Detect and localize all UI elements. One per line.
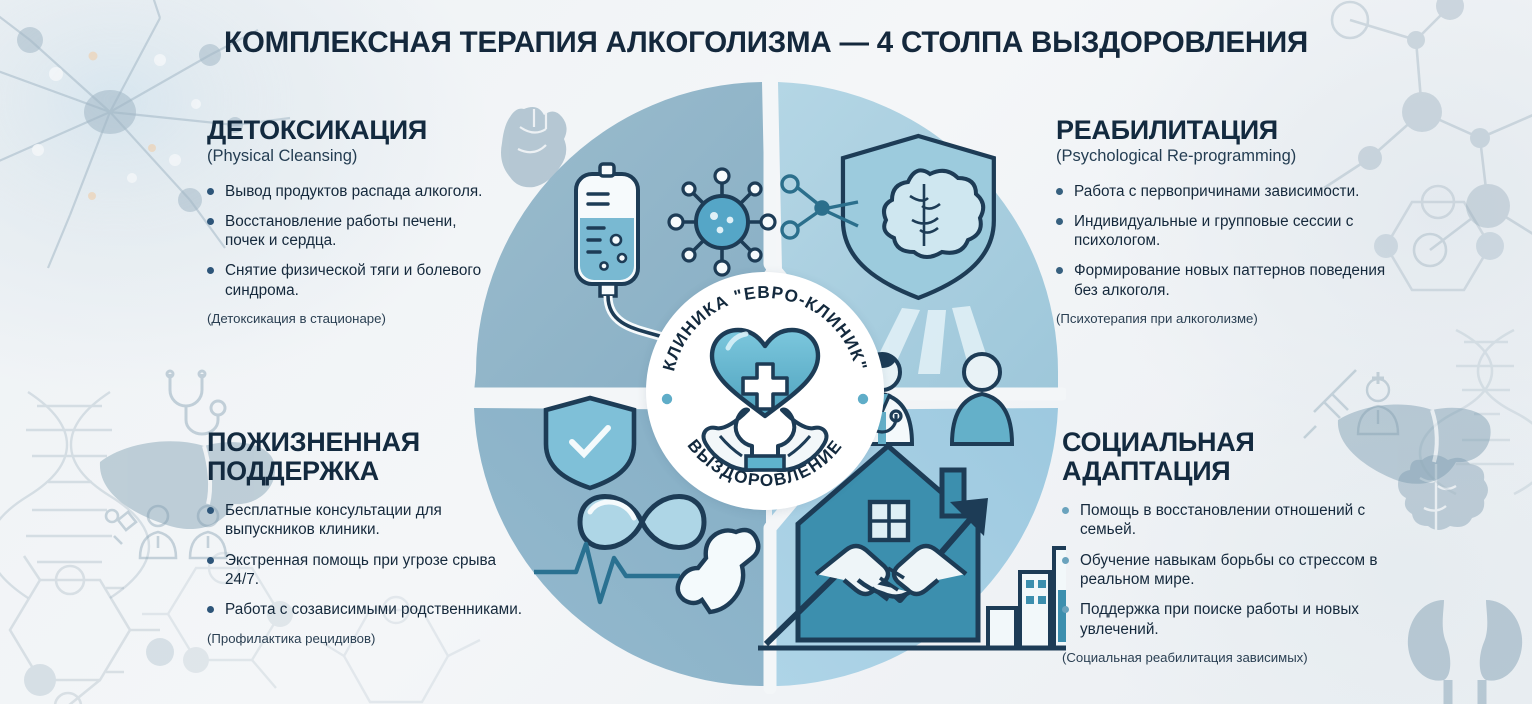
- pillar-title-lifelong-support: ПОЖИЗНЕННАЯ ПОДДЕРЖКА: [207, 428, 527, 485]
- pillar-caption-lifelong-support: (Профилактика рецидивов): [207, 631, 527, 646]
- pillar-bullet-list-rehab: Работа с первопричинами зависимости. Инд…: [1056, 182, 1386, 300]
- pillar-caption-detox: (Детоксикация в стационаре): [207, 311, 489, 326]
- page-title: КОМПЛЕКСНАЯ ТЕРАПИЯ АЛКОГОЛИЗМА — 4 СТОЛ…: [0, 26, 1532, 60]
- bullet-dot-icon: [207, 557, 214, 564]
- pillar-block-detox: ДЕТОКСИКАЦИЯ (Physical Cleansing) Вывод …: [207, 116, 489, 326]
- bullet-text: Работа с созависимыми родственниками.: [225, 601, 522, 618]
- pillar-bullet-list-detox: Вывод продуктов распада алкоголя. Восста…: [207, 182, 489, 300]
- bullet-text: Снятие физической тяги и болевого синдро…: [225, 262, 481, 298]
- bullet-dot-icon: [1062, 557, 1069, 564]
- pillar-subtitle-rehab: (Psychological Re-programming): [1056, 147, 1386, 166]
- heart-with-cross-icon: [712, 330, 818, 416]
- list-item: Экстренная помощь при угрозе срыва 24/7.: [207, 551, 527, 590]
- list-item: Снятие физической тяги и болевого синдро…: [207, 261, 489, 300]
- dna-helix-icon: [0, 392, 149, 598]
- pillar-caption-rehab: (Психотерапия при алкоголизме): [1056, 311, 1386, 326]
- pillar-bullet-list-social-adaptation: Помощь в восстановлении отношений с семь…: [1062, 501, 1392, 639]
- list-item: Работа с созависимыми родственниками.: [207, 600, 527, 619]
- list-item: Бесплатные консультации для выпускников …: [207, 501, 527, 540]
- hexagon-molecule-icon: [10, 556, 174, 704]
- dna-helix-icon: [1420, 330, 1532, 494]
- list-item: Индивидуальные и групповые сессии с псих…: [1056, 212, 1386, 251]
- bullet-text: Обучение навыкам борьбы со стрессом в ре…: [1080, 552, 1377, 588]
- list-item: Восстановление работы печени, почек и се…: [207, 212, 489, 251]
- bullet-text: Вывод продуктов распада алкоголя.: [225, 183, 482, 200]
- pillar-block-lifelong-support: ПОЖИЗНЕННАЯ ПОДДЕРЖКА Бесплатные консуль…: [207, 428, 527, 646]
- list-item: Обучение навыкам борьбы со стрессом в ре…: [1062, 551, 1392, 590]
- pillar-block-rehab: РЕАБИЛИТАЦИЯ (Psychological Re-programmi…: [1056, 116, 1386, 326]
- pillar-title-rehab: РЕАБИЛИТАЦИЯ: [1056, 116, 1386, 145]
- pillar-title-social-adaptation: СОЦИАЛЬНАЯ АДАПТАЦИЯ: [1062, 428, 1392, 485]
- bullet-text: Индивидуальные и групповые сессии с псих…: [1074, 213, 1353, 249]
- bullet-text: Работа с первопричинами зависимости.: [1074, 183, 1359, 200]
- list-item: Поддержка при поиске работы и новых увле…: [1062, 600, 1392, 639]
- pillar-title-detox: ДЕТОКСИКАЦИЯ: [207, 116, 489, 145]
- pillar-bullet-list-lifelong-support: Бесплатные консультации для выпускников …: [207, 501, 527, 619]
- doctor-icon: [1358, 372, 1398, 434]
- pillar-caption-social-adaptation: (Социальная реабилитация зависимых): [1062, 650, 1392, 665]
- hexagon-molecule-icon: [1374, 186, 1504, 290]
- stethoscope-icon: [167, 371, 225, 434]
- bullet-dot-icon: [1056, 218, 1063, 225]
- bullet-text: Помощь в восстановлении отношений с семь…: [1080, 502, 1365, 538]
- bullet-text: Поддержка при поиске работы и новых увле…: [1080, 601, 1359, 637]
- supporting-hands-icon: [704, 410, 827, 470]
- list-item: Работа с первопричинами зависимости.: [1056, 182, 1386, 201]
- badge-dot-left: [662, 394, 672, 404]
- bullet-dot-icon: [207, 606, 214, 613]
- pillar-subtitle-detox: (Physical Cleansing): [207, 147, 489, 166]
- bullet-text: Экстренная помощь при угрозе срыва 24/7.: [225, 552, 496, 588]
- bullet-dot-icon: [1056, 267, 1063, 274]
- list-item: Формирование новых паттернов поведения б…: [1056, 261, 1386, 300]
- list-item: Помощь в восстановлении отношений с семь…: [1062, 501, 1392, 540]
- bullet-dot-icon: [1062, 507, 1069, 514]
- list-item: Вывод продуктов распада алкоголя.: [207, 182, 489, 201]
- badge-dot-right: [858, 394, 868, 404]
- kidneys-icon: [1408, 600, 1522, 704]
- infographic-root: КЛИНИКА "ЕВРО-КЛИНИК" ВЫЗДОРОВЛЕНИЕ К: [0, 0, 1532, 704]
- bullet-text: Восстановление работы печени, почек и се…: [225, 213, 456, 249]
- bullet-dot-icon: [1056, 188, 1063, 195]
- bullet-dot-icon: [207, 218, 214, 225]
- bullet-dot-icon: [1062, 606, 1069, 613]
- bullet-dot-icon: [207, 507, 214, 514]
- bullet-dot-icon: [207, 267, 214, 274]
- bullet-dot-icon: [207, 188, 214, 195]
- bullet-text: Бесплатные консультации для выпускников …: [225, 502, 442, 538]
- pillar-block-social-adaptation: СОЦИАЛЬНАЯ АДАПТАЦИЯ Помощь в восстановл…: [1062, 428, 1392, 665]
- bullet-text: Формирование новых паттернов поведения б…: [1074, 262, 1385, 298]
- center-badge[interactable]: КЛИНИКА "ЕВРО-КЛИНИК" ВЫЗДОРОВЛЕНИЕ: [646, 272, 884, 510]
- brain-icon: [1398, 455, 1488, 532]
